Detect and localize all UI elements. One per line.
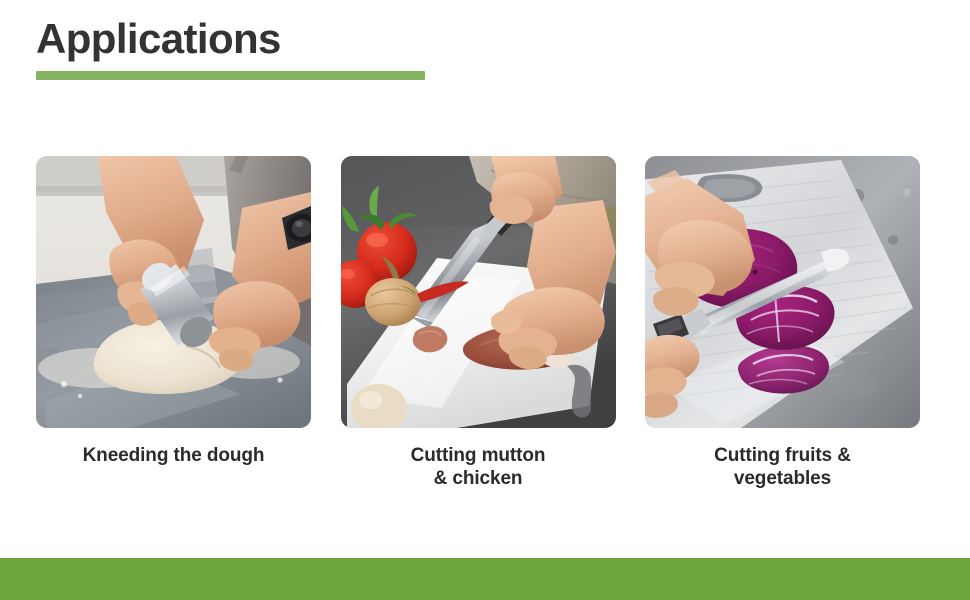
title-underline-accent <box>36 71 425 80</box>
application-card-kneading-dough[interactable]: Kneeding the dough <box>36 156 311 496</box>
card-caption: Cutting fruits & vegetables <box>714 444 851 490</box>
applications-page: Applications <box>0 0 970 600</box>
card-caption: Kneeding the dough <box>83 444 265 467</box>
card-caption: Cutting mutton & chicken <box>411 444 546 490</box>
kneading-dough-photo <box>36 156 311 428</box>
application-card-cutting-vegetables[interactable]: Cutting fruits & vegetables <box>645 156 920 496</box>
cutting-meat-photo <box>341 156 616 428</box>
application-cards-row: Kneeding the dough <box>36 156 920 496</box>
page-title: Applications <box>36 14 281 64</box>
cutting-vegetables-photo <box>645 156 920 428</box>
application-card-cutting-meat[interactable]: Cutting mutton & chicken <box>341 156 616 496</box>
footer-green-band <box>0 558 970 600</box>
